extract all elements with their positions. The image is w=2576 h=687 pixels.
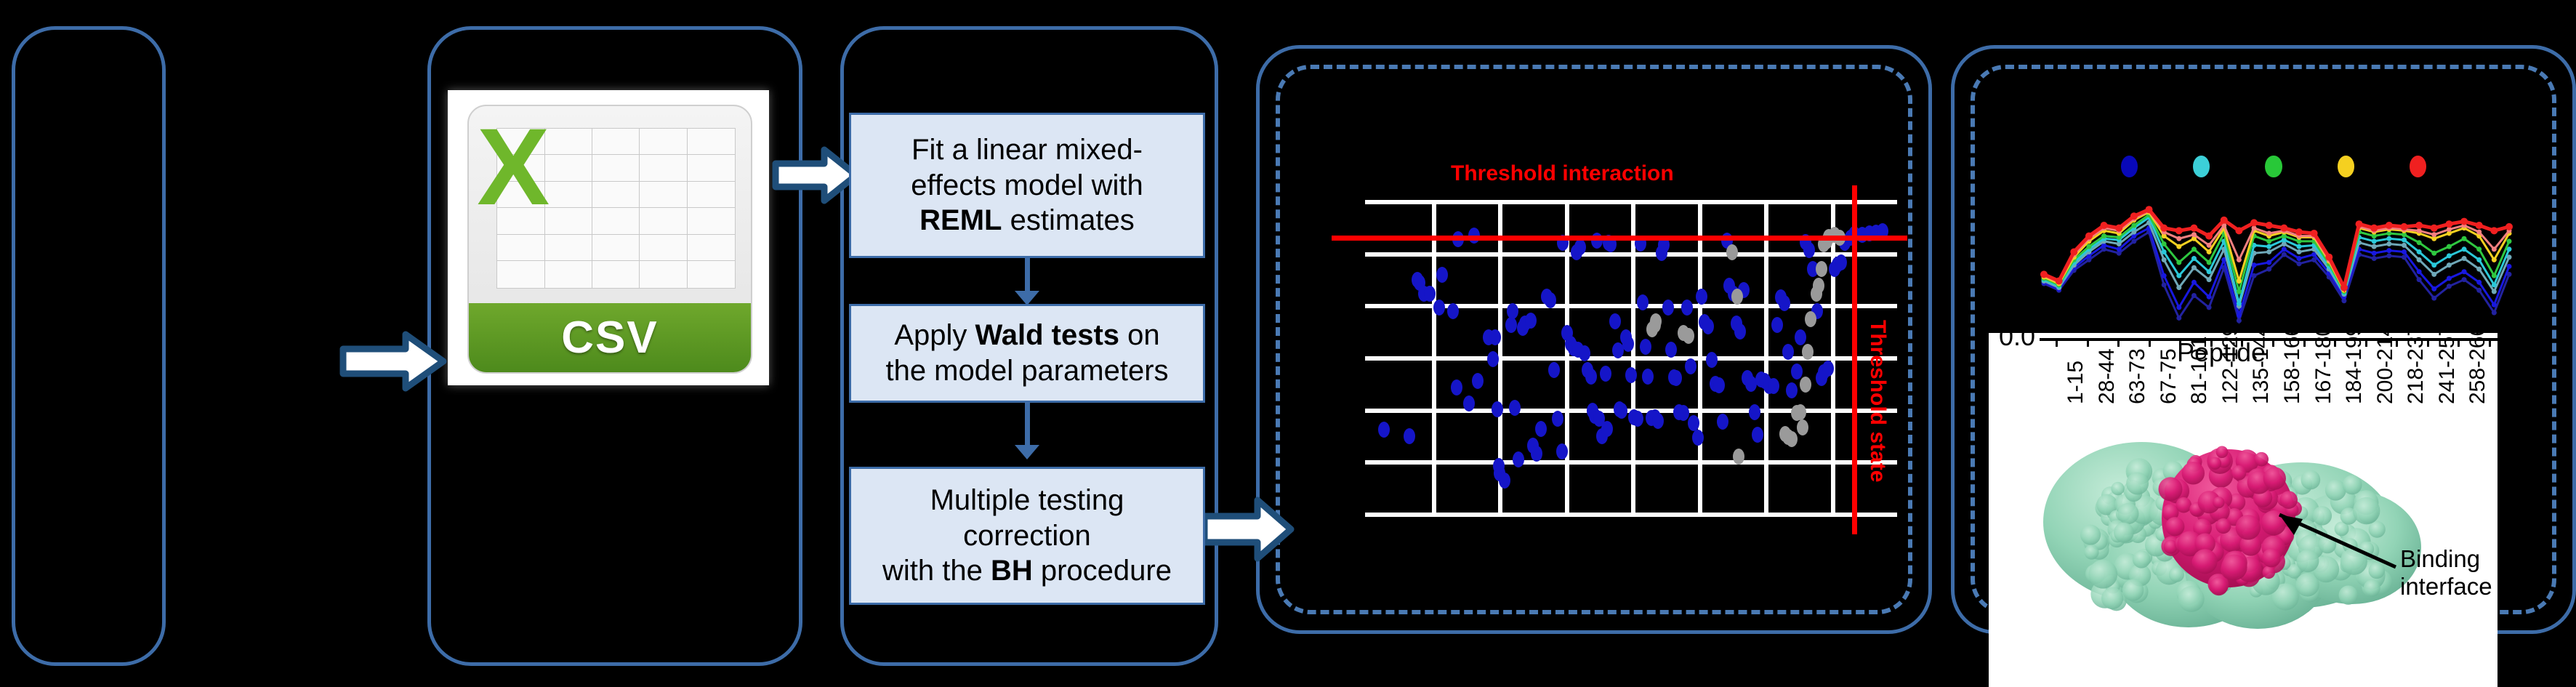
protein-green-atom (2339, 585, 2358, 604)
csv-grid-cell (639, 207, 688, 236)
csv-grid-cell (687, 234, 736, 262)
grid-line-horizontal (1365, 252, 1897, 257)
scatter-point (1552, 411, 1563, 427)
peptide-data-point (2237, 257, 2242, 262)
scatter-point (1451, 379, 1462, 395)
csv-grid-cell (687, 207, 736, 236)
peptide-data-point (2175, 227, 2183, 234)
scatter-point (1625, 367, 1637, 383)
protein-magenta-atom (2262, 549, 2281, 568)
scatter-point (1404, 428, 1415, 444)
csv-grid-cell (639, 154, 688, 182)
scatter-point (1531, 446, 1542, 462)
scatter-point (1795, 404, 1806, 420)
scatter-point (1616, 403, 1627, 419)
peptide-data-point (2462, 269, 2467, 274)
peptide-data-point (2386, 241, 2391, 246)
peptide-uptake-chart (2022, 188, 2531, 333)
scatter-point (1505, 317, 1517, 333)
scatter-point (1637, 294, 1649, 310)
peptide-data-point (2266, 260, 2271, 265)
peptide-data-point (2266, 244, 2271, 249)
peptide-data-point (2431, 262, 2436, 268)
protein-green-atom (2364, 579, 2380, 596)
grid-line-horizontal (1365, 200, 1897, 204)
peptide-data-point (2085, 233, 2093, 240)
protein-green-atom (2343, 475, 2362, 494)
peptide-data-point (2237, 278, 2242, 284)
peptide-data-point (2476, 230, 2482, 235)
scatter-point (1731, 289, 1743, 305)
legend-marker (2193, 156, 2210, 177)
peptide-data-point (2207, 294, 2212, 300)
peptide-data-point (2176, 305, 2181, 310)
panel-input-data (12, 26, 166, 666)
peptide-data-point (2280, 225, 2287, 232)
scatter-point (1726, 244, 1738, 260)
peptide-data-point (2431, 272, 2436, 277)
scatter-point (1786, 382, 1798, 398)
peptide-data-point (2176, 316, 2181, 321)
protein-magenta-atom (2158, 477, 2182, 501)
peptide-data-point (2205, 233, 2213, 240)
grid-line-horizontal (1365, 513, 1897, 517)
peptide-data-point (2372, 256, 2377, 261)
scatter-point (1734, 324, 1746, 340)
protein-magenta-atom (2254, 452, 2269, 467)
peptide-data-point (2462, 277, 2467, 282)
arrow-to-csv (339, 329, 448, 394)
scatter-point (1513, 451, 1524, 467)
csv-file-icon: X CSV (448, 90, 769, 385)
timepoint-legend (2121, 156, 2426, 179)
peptide-data-point (2131, 223, 2136, 228)
scatter-point (1601, 421, 1613, 437)
scatter-point (1436, 267, 1448, 283)
peptide-data-point (2040, 270, 2048, 278)
protein-structure-figure: Peptide Binding interface (1989, 406, 2497, 687)
scatter-point (1713, 377, 1725, 393)
peptide-data-point (2386, 248, 2391, 253)
peptide-data-point (2356, 220, 2363, 228)
peptide-data-point (2476, 288, 2482, 293)
peptide-data-point (2447, 253, 2452, 258)
csv-extension-band: CSV (469, 303, 752, 372)
box-text: Multiple testingcorrectionwith the BH pr… (882, 483, 1172, 589)
scatter-point (1681, 300, 1693, 316)
peptide-data-point (2296, 256, 2301, 261)
peptide-data-point (2447, 244, 2452, 249)
peptide-data-point (2447, 284, 2452, 289)
peptide-data-point (2191, 265, 2197, 270)
csv-grid-cell (639, 181, 688, 209)
scatter-point (1640, 339, 1651, 355)
protein-green-atom (2126, 473, 2149, 495)
arrow-csv-to-model (772, 145, 859, 205)
peptide-data-point (2460, 218, 2468, 225)
peptide-data-point (2237, 301, 2242, 306)
arrow-stats-to-results (1201, 494, 1295, 564)
scatter-point (1835, 254, 1847, 270)
protein-green-atom (2368, 563, 2385, 579)
scatter-point (1802, 344, 1814, 360)
scatter-point (1822, 361, 1834, 377)
scatter-point (1612, 342, 1624, 358)
peptide-data-point (2207, 269, 2212, 274)
peptide-data-point (2207, 243, 2212, 248)
peptide-data-point (2402, 238, 2407, 243)
peptide-data-point (2296, 261, 2301, 266)
legend-marker (2265, 156, 2282, 177)
peptide-data-point (2235, 227, 2242, 234)
protein-magenta-atom (2165, 517, 2184, 536)
csv-grid-cell (592, 154, 640, 182)
peptide-data-point (2266, 238, 2271, 244)
peptide-data-point (2056, 277, 2063, 284)
protein-green-atom (2296, 550, 2319, 572)
scatter-point (1678, 405, 1689, 421)
peptide-data-point (2492, 273, 2497, 278)
binding-interface-line2: interface (2400, 573, 2492, 600)
box-fit-model[interactable]: Fit a linear mixed-effects model with RE… (849, 113, 1205, 258)
box-text: Apply Wald tests onthe model parameters (885, 318, 1168, 389)
box-multiple-testing[interactable]: Multiple testingcorrectionwith the BH pr… (849, 467, 1205, 605)
connector-2-arrowhead (1015, 445, 1039, 459)
protein-magenta-atom (2263, 467, 2286, 489)
scatter-point (1609, 313, 1621, 329)
protein-green-atom (2114, 523, 2134, 543)
threshold-interaction-label: Threshold interaction (1451, 161, 1674, 186)
csv-grid-cell (592, 128, 640, 156)
peptide-data-point (2191, 256, 2197, 261)
scatter-point (1752, 427, 1763, 443)
peptide-data-point (2101, 233, 2106, 238)
protein-magenta-atom (2175, 497, 2191, 513)
protein-magenta-atom (2213, 497, 2224, 508)
peptide-data-point (2162, 241, 2167, 246)
peptide-data-point (2370, 225, 2378, 232)
scatter-point (1768, 378, 1779, 394)
peptide-data-point (2490, 227, 2497, 234)
peptide-data-point (2207, 305, 2212, 310)
peptide-data-point (2266, 267, 2271, 272)
scatter-point (1749, 404, 1760, 420)
peptide-data-point (2402, 249, 2407, 254)
scatter-point (1642, 369, 1654, 385)
peptide-data-point (2070, 248, 2077, 255)
scatter-point (1662, 300, 1674, 316)
scatter-point (1683, 328, 1694, 344)
peptide-data-point (2191, 232, 2197, 237)
csv-icon-body: X CSV (467, 105, 753, 373)
peptide-series-line (2044, 232, 2509, 321)
peptide-data-point (2386, 253, 2391, 258)
volcano-scatter-plot (1365, 200, 1897, 513)
protein-green-atom (2178, 586, 2205, 612)
threshold-state-line (1852, 185, 1857, 534)
peptide-data-point (2476, 222, 2483, 229)
peptide-data-point (2462, 236, 2467, 241)
scatter-point (1535, 421, 1547, 437)
binding-interface-line1: Binding (2400, 545, 2492, 573)
peptide-data-point (2146, 206, 2153, 213)
scatter-point (1472, 373, 1484, 389)
scatter-point (1632, 411, 1643, 427)
peptide-data-point (2162, 257, 2167, 262)
protein-green-atom (2088, 560, 2117, 589)
protein-magenta-atom (2279, 491, 2298, 509)
peptide-data-point (2117, 246, 2122, 252)
protein-magenta-atom (2209, 457, 2221, 470)
scatter-point (1779, 295, 1790, 311)
peptide-data-point (2221, 217, 2228, 224)
protein-magenta-atom (2262, 566, 2275, 579)
peptide-data-point (2340, 284, 2348, 292)
scatter-point (1585, 369, 1597, 385)
csv-grid-cell (687, 128, 736, 156)
scatter-point (1782, 344, 1794, 360)
csv-grid-cell (480, 255, 531, 284)
box-wald-tests[interactable]: Apply Wald tests onthe model parameters (849, 304, 1205, 403)
csv-grid-cell (687, 154, 736, 182)
peptide-data-point (2162, 273, 2167, 278)
peptide-data-point (2386, 236, 2391, 241)
excel-x-glyph: X (477, 112, 584, 250)
peptide-data-point (2191, 246, 2197, 252)
peptide-data-point (2311, 230, 2318, 237)
scatter-point (1579, 345, 1590, 361)
peptide-data-point (2296, 249, 2301, 254)
peptide-data-point (2492, 257, 2497, 262)
scatter-point (1706, 352, 1718, 368)
peptide-data-point (2190, 225, 2197, 232)
peptide-data-point (2115, 225, 2122, 232)
scatter-point (1745, 376, 1757, 392)
peptide-data-point (2372, 238, 2377, 244)
scatter-point (1556, 443, 1568, 459)
peptide-data-point (2417, 269, 2422, 274)
peptide-data-point (2086, 244, 2091, 249)
connector-2 (1025, 403, 1030, 448)
protein-magenta-atom (2210, 577, 2229, 596)
peptide-data-point (2207, 260, 2212, 265)
peptide-data-point (2431, 251, 2436, 256)
protein-green-atom (2133, 550, 2151, 569)
peptide-data-point (2162, 282, 2167, 287)
protein-magenta-atom (2216, 446, 2229, 458)
scatter-point (1813, 278, 1824, 294)
peptide-data-point (2417, 240, 2422, 245)
scatter-point (1696, 289, 1707, 305)
peptide-data-point (2207, 249, 2212, 254)
grid-line-horizontal (1365, 460, 1897, 465)
protein-green-atom (2101, 587, 2123, 609)
peptide-data-point (2492, 246, 2497, 252)
connector-1-arrowhead (1015, 291, 1039, 305)
peptide-data-point (2492, 289, 2497, 294)
protein-magenta-atom (2193, 549, 2218, 574)
peptide-x-axis-title: Peptide (1989, 337, 2454, 368)
threshold-interaction-line (1332, 236, 1907, 241)
scatter-point (1670, 370, 1682, 386)
peptide-data-point (2282, 246, 2287, 252)
peptide-data-point (2492, 310, 2497, 316)
peptide-data-point (2295, 228, 2303, 236)
scatter-point (1548, 362, 1560, 378)
peptide-data-point (2445, 220, 2452, 228)
scatter-point (1545, 292, 1556, 308)
peptide-data-point (2250, 219, 2258, 226)
peptide-data-point (2447, 276, 2452, 281)
scatter-point (1652, 413, 1664, 429)
protein-green-atom (2117, 503, 2138, 524)
peptide-data-point (2386, 222, 2393, 229)
scatter-point (1650, 313, 1662, 329)
csv-grid-cell (592, 207, 640, 236)
peptide-data-point (2176, 244, 2181, 249)
peptide-data-point (2492, 302, 2497, 308)
peptide-data-point (2417, 277, 2422, 282)
scatter-point (1600, 366, 1611, 382)
peptide-data-point (2176, 285, 2181, 290)
peptide-data-point (2325, 254, 2333, 261)
csv-grid-cell (639, 260, 688, 289)
csv-grid-cell (480, 372, 531, 374)
peptide-data-point (2505, 223, 2513, 230)
scatter-point (1447, 303, 1459, 319)
peptide-data-point (2447, 262, 2452, 268)
scatter-point (1805, 311, 1816, 327)
scatter-point (1800, 377, 1811, 393)
csv-grid-cell (639, 234, 688, 262)
scatter-point (1507, 303, 1518, 319)
x-axis-tick-label: 258-266 (2466, 324, 2490, 404)
peptide-data-point (2237, 313, 2242, 318)
scatter-point (1525, 313, 1537, 329)
peptide-data-point (2431, 232, 2436, 237)
scatter-point (1797, 419, 1808, 435)
peptide-data-point (2400, 223, 2407, 230)
peptide-data-point (2176, 260, 2181, 265)
peptide-data-point (2130, 212, 2138, 220)
scatter-point (1791, 363, 1803, 379)
legend-marker (2121, 156, 2138, 177)
peptide-data-point (2266, 222, 2273, 229)
peptide-data-point (2431, 286, 2436, 292)
peptide-data-point (2415, 222, 2423, 229)
scatter-point (1803, 242, 1815, 258)
box-text: Fit a linear mixed-effects model with RE… (911, 132, 1143, 238)
legend-marker (2410, 156, 2426, 177)
binding-interface-annotation: Binding interface (2400, 545, 2492, 600)
peptide-data-point (2507, 264, 2512, 269)
csv-grid-cell (639, 128, 688, 156)
peptide-data-point (2431, 225, 2438, 232)
threshold-state-label: Threshold state (1865, 320, 1890, 482)
x-axis-tick-label: 277-284 (2497, 324, 2521, 404)
scatter-point (1702, 318, 1714, 334)
protein-magenta-atom (2215, 518, 2231, 534)
protein-green-atom (2080, 525, 2101, 545)
peptide-data-point (2372, 251, 2377, 256)
scatter-point (1492, 401, 1503, 417)
scatter-point (1771, 317, 1783, 333)
peptide-data-point (2282, 252, 2287, 257)
peptide-data-point (2492, 282, 2497, 287)
protein-magenta-atom (2236, 515, 2261, 539)
scatter-point (1795, 329, 1806, 345)
protein-magenta-atom (2221, 554, 2247, 580)
connector-1 (1025, 258, 1030, 294)
peptide-data-point (2191, 293, 2197, 298)
peptide-data-point (2476, 246, 2482, 252)
protein-green-atom (2111, 482, 2124, 495)
x-axis-tick (2489, 338, 2491, 347)
peptide-data-point (2462, 246, 2467, 252)
peptide-data-point (2162, 249, 2167, 254)
peptide-data-point (2476, 257, 2482, 262)
peptide-data-point (2131, 238, 2136, 244)
peptide-data-point (2507, 238, 2512, 244)
peptide-data-point (2176, 273, 2181, 278)
peptide-data-point (2237, 289, 2242, 294)
csv-extension-label: CSV (561, 312, 658, 363)
peptide-data-point (2417, 249, 2422, 254)
grid-line-horizontal (1365, 356, 1897, 361)
peptide-data-point (2402, 243, 2407, 248)
protein-green-atom (2084, 545, 2098, 559)
scatter-point (1685, 358, 1696, 374)
csv-grid-cell (687, 181, 736, 209)
scatter-point (1692, 430, 1704, 446)
peptide-data-point (2266, 230, 2271, 236)
scatter-point (1378, 422, 1390, 438)
peptide-data-point (2160, 225, 2168, 232)
scatter-point (1574, 239, 1586, 255)
csv-grid-cell (592, 181, 640, 209)
peptide-data-point (2417, 257, 2422, 262)
x-axis-tick (2458, 338, 2460, 347)
scatter-point (1786, 431, 1798, 447)
peptide-data-point (2462, 256, 2467, 261)
protein-green-atom (2313, 506, 2333, 526)
peptide-data-point (2476, 280, 2482, 285)
protein-magenta-atom (2231, 465, 2247, 481)
protein-green-atom (2301, 470, 2320, 490)
peptide-data-point (2266, 249, 2271, 254)
peptide-data-point (2207, 277, 2212, 282)
scatter-point (1509, 400, 1521, 416)
peptide-data-point (2431, 296, 2436, 301)
peptide-data-point (2476, 267, 2482, 272)
scatter-point (1816, 261, 1827, 277)
peptide-line-svg (2022, 188, 2531, 333)
scatter-point (1433, 300, 1445, 316)
peptide-data-point (2372, 244, 2377, 249)
peptide-data-point (2176, 236, 2181, 241)
scatter-point (1717, 414, 1728, 430)
protein-magenta-atom (2182, 462, 2205, 484)
scatter-point (1499, 473, 1510, 489)
csv-grid-cell (687, 260, 736, 289)
peptide-data-point (2101, 222, 2108, 229)
protein-green-atom (2122, 579, 2144, 601)
scatter-point (1487, 351, 1499, 367)
protein-green-atom (2353, 497, 2380, 524)
peptide-data-point (2191, 280, 2197, 285)
legend-marker (2338, 156, 2354, 177)
peptide-data-point (2296, 244, 2301, 249)
